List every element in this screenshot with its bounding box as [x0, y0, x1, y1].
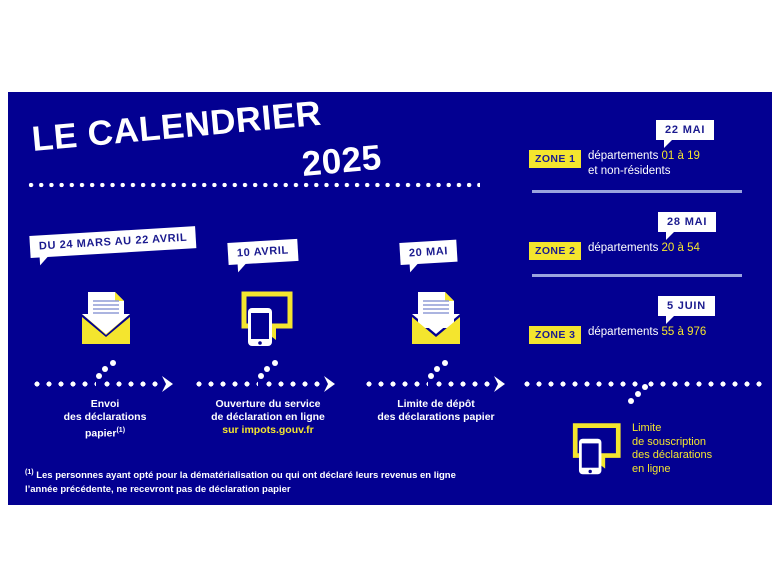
envelope-document-icon — [404, 288, 466, 350]
caption-line: en ligne — [632, 463, 754, 477]
milestone-caption-1: Envoi des déclarations papier(1) — [35, 398, 175, 441]
zone-2-badge-label: ZONE 2 — [535, 245, 575, 257]
caption-text: papier — [85, 428, 117, 440]
timeline-connector-1 — [34, 370, 180, 396]
timeline-connector-4 — [524, 370, 772, 396]
milestone-badge-3-label: 20 MAI — [409, 245, 449, 259]
footnote-line-2: l’année précédente, ne recevront pas de … — [25, 483, 550, 497]
caption-line: des déclarations papier — [360, 411, 512, 424]
bubble-tail — [666, 315, 675, 324]
milestone-badge-1: DU 24 MARS AU 22 AVRIL — [29, 226, 196, 258]
zone-1-line-1: départements 01 à 19 — [588, 149, 700, 164]
footnote-marker: (1) — [25, 469, 34, 476]
zone-3-date-badge: 5 JUIN — [658, 296, 715, 316]
caption-line: de souscription — [632, 436, 754, 450]
zone-divider-2 — [532, 274, 742, 277]
zone-1-date-label: 22 MAI — [665, 124, 705, 136]
caption-line: des déclarations — [35, 411, 175, 424]
caption-line: des déclarations — [632, 449, 754, 463]
milestone-caption-3: Limite de dépôt des déclarations papier — [360, 398, 512, 424]
bubble-tail — [666, 231, 675, 240]
zone-2-line-1: départements 20 à 54 — [588, 241, 700, 256]
zone-3-badge: ZONE 3 — [529, 326, 581, 344]
zone-2-prefix: départements — [588, 242, 662, 254]
envelope-document-icon — [74, 288, 136, 350]
zone-1-badge: ZONE 1 — [529, 150, 581, 168]
zone-2-description: départements 20 à 54 — [588, 241, 700, 256]
zone-1-prefix: départements — [588, 150, 662, 162]
caption-line: papier(1) — [35, 424, 175, 441]
footnote-marker: (1) — [116, 427, 125, 434]
caption-line: Envoi — [35, 398, 175, 411]
zone-3-line-1: départements 55 à 976 — [588, 325, 706, 340]
zone-3-range: 55 à 976 — [662, 326, 707, 338]
zone-3-badge-label: ZONE 3 — [535, 329, 575, 341]
zone-divider-1 — [532, 190, 742, 193]
title-main-text: LE CALENDRIER — [30, 94, 323, 160]
milestone-badge-2: 10 AVRIL — [227, 239, 298, 265]
caption-line: Ouverture du service — [192, 398, 344, 411]
title-year-text: 2025 — [300, 138, 383, 185]
infographic-panel: LE CALENDRIER 2025 DU 24 MARS AU 22 AVRI… — [8, 92, 772, 505]
page-title: LE CALENDRIER 2025 — [32, 112, 452, 192]
milestone-caption-2: Ouverture du service de déclaration en l… — [192, 398, 344, 437]
zone-1-badge-label: ZONE 1 — [535, 153, 575, 165]
zone-1-range: 01 à 19 — [662, 150, 700, 162]
final-milestone-caption: Limite de souscription des déclarations … — [632, 422, 754, 476]
title-dotted-divider — [28, 182, 480, 188]
footnote-text-1: Les personnes ayant opté pour la dématér… — [34, 470, 456, 481]
milestone-badge-3: 20 MAI — [399, 240, 457, 265]
bubble-tail — [40, 256, 50, 266]
zone-1-date-badge: 22 MAI — [656, 120, 714, 140]
milestone-badge-1-label: DU 24 MARS AU 22 AVRIL — [39, 232, 188, 253]
timeline-connector-2 — [196, 370, 342, 396]
footnote-line-1: (1) Les personnes ayant opté pour la dém… — [25, 466, 550, 483]
screen-phone-icon — [232, 288, 294, 350]
screen-phone-icon — [563, 420, 623, 478]
timeline-connector-3 — [366, 370, 512, 396]
zone-2-date-label: 28 MAI — [667, 216, 707, 228]
zone-2-range: 20 à 54 — [662, 242, 700, 254]
bubble-tail — [410, 263, 420, 273]
caption-line: de déclaration en ligne — [192, 411, 344, 424]
zone-3-description: départements 55 à 976 — [588, 325, 706, 340]
zone-1-line-2: et non-résidents — [588, 164, 700, 179]
caption-line: Limite de dépôt — [360, 398, 512, 411]
zone-3-prefix: départements — [588, 326, 662, 338]
footnote: (1) Les personnes ayant opté pour la dém… — [25, 466, 550, 496]
bubble-tail — [238, 263, 248, 273]
caption-line: Limite — [632, 422, 754, 436]
milestone-badge-2-label: 10 AVRIL — [237, 244, 289, 259]
impots-gouv-link[interactable]: sur impots.gouv.fr — [192, 424, 344, 437]
bubble-tail — [664, 139, 673, 148]
zone-2-date-badge: 28 MAI — [658, 212, 716, 232]
zone-2-badge: ZONE 2 — [529, 242, 581, 260]
zone-3-date-label: 5 JUIN — [667, 300, 706, 312]
zone-1-description: départements 01 à 19 et non-résidents — [588, 149, 700, 179]
